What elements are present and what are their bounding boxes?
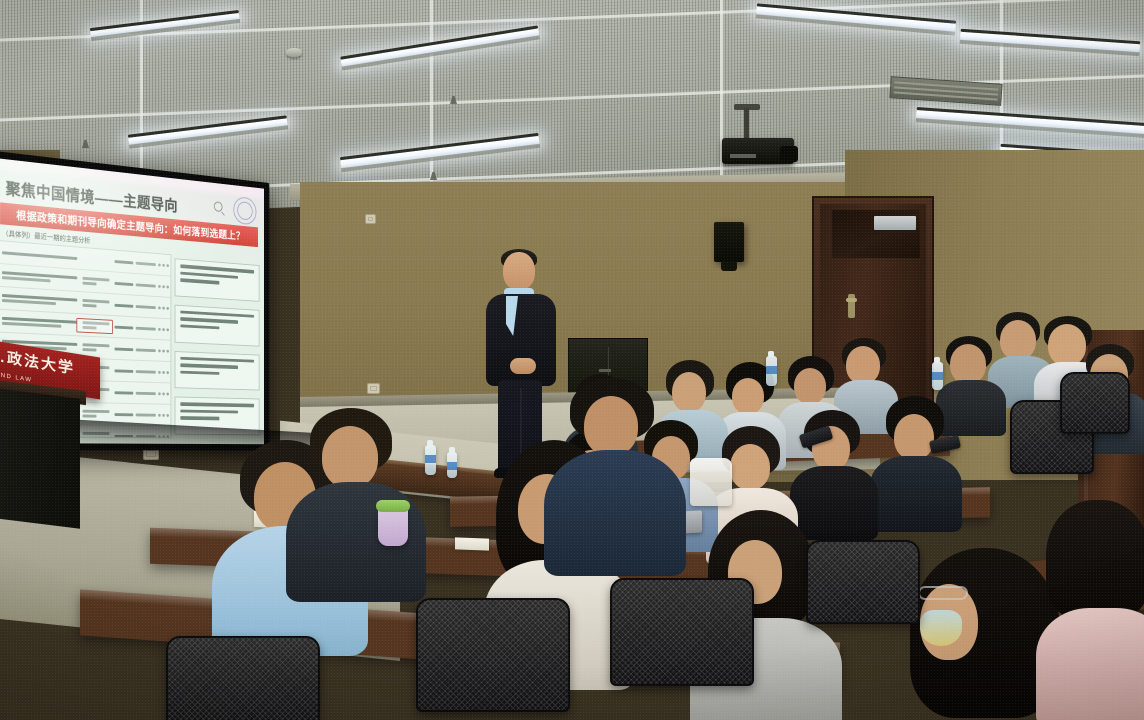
table-cell-actions[interactable] <box>158 327 171 331</box>
table-cell-title <box>2 249 80 261</box>
table-cell-date <box>136 412 156 418</box>
table-cell-authors <box>83 342 112 353</box>
door-handle[interactable] <box>848 294 855 318</box>
slide-note-boxes <box>175 258 260 435</box>
table-cell-actions[interactable] <box>158 306 171 310</box>
slide-note-box <box>175 304 260 346</box>
table-cell-date <box>136 260 156 267</box>
chair[interactable] <box>416 598 570 712</box>
smoke-detector <box>286 48 302 57</box>
table-cell-journal <box>115 324 134 331</box>
table-cell-actions[interactable] <box>158 349 171 352</box>
presenter-head <box>503 252 535 290</box>
table-cell-date <box>136 325 156 332</box>
chair[interactable] <box>806 540 920 624</box>
water-bottle <box>447 452 457 478</box>
water-bottle <box>425 445 436 475</box>
chair[interactable] <box>610 578 754 686</box>
door-window <box>832 210 920 258</box>
table-cell-title <box>2 270 80 286</box>
drink-cup <box>378 506 408 546</box>
table-cell-authors <box>83 409 112 420</box>
table-cell-actions[interactable] <box>158 370 171 373</box>
table-cell-date <box>136 303 156 310</box>
table-cell-actions[interactable] <box>158 392 171 395</box>
table-cell-actions[interactable] <box>158 413 171 416</box>
audience-person <box>560 378 670 568</box>
table-cell-actions[interactable] <box>158 284 171 288</box>
table-cell-authors <box>83 298 112 310</box>
lectern <box>0 385 80 529</box>
search-icon <box>214 201 223 212</box>
chair[interactable] <box>166 636 320 720</box>
table-cell-journal <box>115 280 134 287</box>
water-bottle <box>932 362 943 390</box>
slide-highlight-box <box>76 318 112 334</box>
papers <box>455 537 489 550</box>
presenter-clasped-hands <box>510 358 536 374</box>
table-cell-title <box>2 316 80 330</box>
audience-person <box>1046 500 1144 720</box>
table-cell-date <box>136 368 156 374</box>
table-cell-authors <box>83 259 112 261</box>
university-seal-icon <box>233 196 256 225</box>
table-cell-journal <box>115 346 134 352</box>
audience-person <box>880 400 956 520</box>
wall-speaker <box>714 222 744 262</box>
table-cell-journal <box>115 258 134 265</box>
audience-person <box>300 408 410 588</box>
lecture-hall-photo: 聚焦中国情境——主题导向 根据政策和期刊导向确定主题导向：如何落到选题上？ （具… <box>0 0 1144 720</box>
table-cell-journal <box>115 411 134 417</box>
projector-rod <box>744 108 749 138</box>
eyeglasses <box>918 586 968 600</box>
slide-note-box <box>175 258 260 301</box>
plastic-bag <box>690 458 732 506</box>
table-cell-date <box>136 390 156 396</box>
wall-outlet-3 <box>367 383 380 394</box>
table-cell-date <box>136 347 156 353</box>
table-cell-actions[interactable] <box>158 263 171 267</box>
wall-outlet-4 <box>365 214 376 224</box>
table-cell-date <box>136 282 156 289</box>
projector-lens <box>780 146 798 162</box>
table-cell-journal <box>115 389 134 395</box>
table-cell-title <box>2 293 80 308</box>
water-bottle <box>766 356 777 386</box>
table-cell-journal <box>115 368 134 374</box>
table-cell-journal <box>115 302 134 309</box>
face-mask <box>920 610 962 646</box>
table-cell-authors <box>83 276 112 288</box>
drink-cup-lid <box>376 500 410 512</box>
slide-note-box <box>175 351 260 391</box>
chair[interactable] <box>1060 372 1130 434</box>
